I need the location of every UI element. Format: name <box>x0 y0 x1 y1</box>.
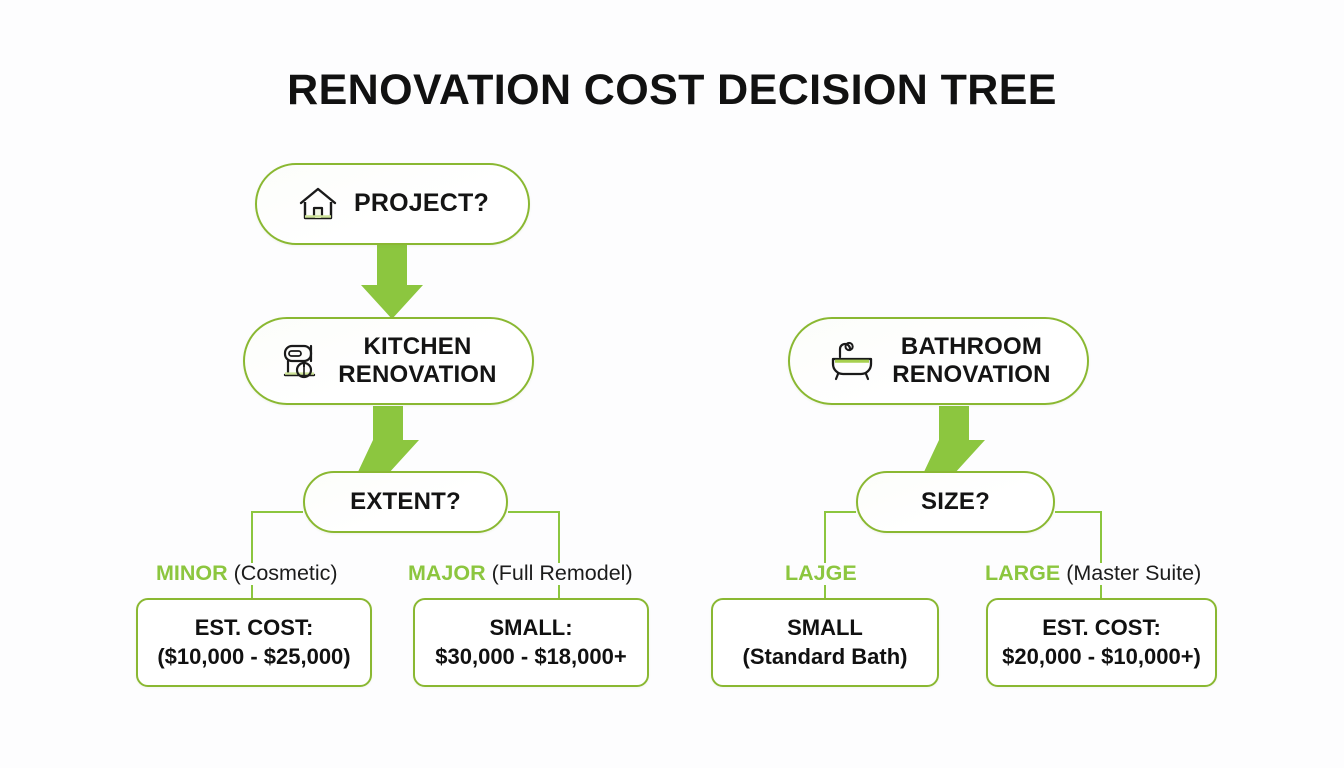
outcome-text: SMALL: $30,000 - $18,000+ <box>435 614 626 670</box>
outcome-box[interactable]: EST. COST: $20,000 - $10,000+) <box>986 598 1217 687</box>
node-project[interactable]: PROJECT? <box>255 163 530 245</box>
stand-mixer-icon <box>280 338 324 384</box>
outcome-box[interactable]: SMALL: $30,000 - $18,000+ <box>413 598 649 687</box>
arrow-project-to-kitchen <box>361 245 423 319</box>
bathroom-line-2: RENOVATION <box>892 361 1050 388</box>
branch-large-paren: (Master Suite) <box>1060 561 1201 585</box>
node-bathroom-label: BATHROOM RENOVATION <box>892 333 1050 390</box>
outcome-box[interactable]: EST. COST: ($10,000 - $25,000) <box>136 598 372 687</box>
branch-label-lajge: LAJGE <box>785 563 857 585</box>
kitchen-line-1: KITCHEN <box>363 333 471 360</box>
bathroom-line-1: BATHROOM <box>901 333 1042 360</box>
outcome-text: EST. COST: $20,000 - $10,000+) <box>1002 614 1201 670</box>
page-title: RENOVATION COST DECISION TREE <box>0 66 1344 115</box>
house-icon <box>296 183 340 225</box>
branch-major-strong: MAJOR <box>408 561 486 585</box>
outcome-line-2: $20,000 - $10,000+) <box>1002 643 1201 671</box>
outcome-line-1: SMALL <box>743 614 908 642</box>
branch-label-major: MAJOR (Full Remodel) <box>408 563 633 585</box>
branch-stub-lines <box>252 585 1101 598</box>
diagram-canvas: RENOVATION COST DECISION TREE <box>0 0 1344 768</box>
node-size-label: SIZE? <box>921 488 990 516</box>
branch-large-strong: LARGE <box>985 561 1060 585</box>
bathtub-icon <box>826 338 878 384</box>
outcome-text: SMALL (Standard Bath) <box>743 614 908 670</box>
branch-minor-strong: MINOR <box>156 561 228 585</box>
arrow-bathroom-to-size <box>923 406 985 474</box>
outcome-line-2: $30,000 - $18,000+ <box>435 643 626 671</box>
outcome-line-1: EST. COST: <box>157 614 350 642</box>
node-extent-question[interactable]: EXTENT? <box>303 471 508 533</box>
node-project-label: PROJECT? <box>354 189 489 219</box>
outcome-line-1: EST. COST: <box>1002 614 1201 642</box>
outcome-line-1: SMALL: <box>435 614 626 642</box>
node-kitchen-renovation[interactable]: KITCHEN RENOVATION <box>243 317 534 405</box>
outcome-box[interactable]: SMALL (Standard Bath) <box>711 598 939 687</box>
node-extent-label: EXTENT? <box>350 488 461 516</box>
node-bathroom-renovation[interactable]: BATHROOM RENOVATION <box>788 317 1089 405</box>
branch-label-minor: MINOR (Cosmetic) <box>156 563 338 585</box>
branch-label-large: LARGE (Master Suite) <box>985 563 1201 585</box>
outcome-line-2: (Standard Bath) <box>743 643 908 671</box>
branch-minor-paren: (Cosmetic) <box>228 561 338 585</box>
node-kitchen-label: KITCHEN RENOVATION <box>338 333 496 390</box>
outcome-text: EST. COST: ($10,000 - $25,000) <box>157 614 350 670</box>
node-size-question[interactable]: SIZE? <box>856 471 1055 533</box>
branch-major-paren: (Full Remodel) <box>486 561 633 585</box>
outcome-line-2: ($10,000 - $25,000) <box>157 643 350 671</box>
branch-lajge-strong: LAJGE <box>785 561 857 585</box>
arrow-kitchen-to-extent <box>357 406 419 474</box>
kitchen-line-2: RENOVATION <box>338 361 496 388</box>
